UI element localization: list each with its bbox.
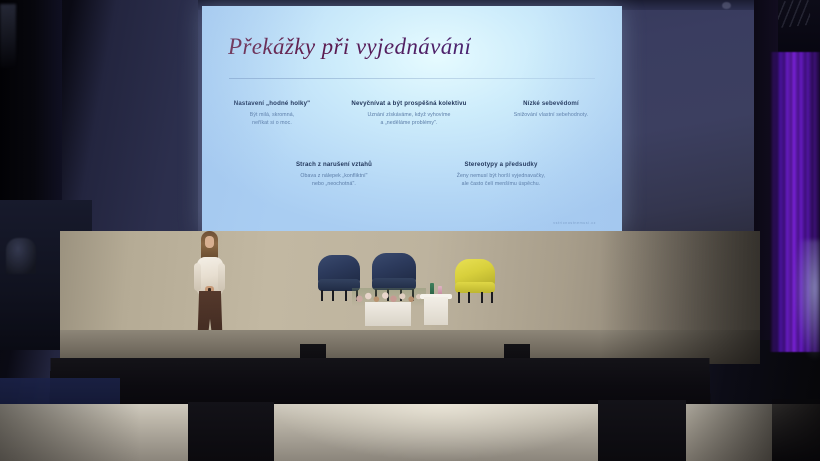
point-heading: Nastavení „hodné holky" bbox=[218, 100, 326, 108]
right-stage-glow bbox=[794, 240, 820, 360]
audience-silhouette-right bbox=[772, 399, 820, 461]
floor-light-pool bbox=[270, 404, 610, 461]
point-body: Uznání získáváme, když vyhovíme a „neděl… bbox=[333, 111, 485, 128]
ceiling-spotlight-icon bbox=[722, 2, 731, 9]
slide-points-row-bottom: Strach z narušení vztahů Obava z nálepek… bbox=[270, 161, 570, 189]
speaker-arm-right bbox=[218, 263, 225, 291]
point-heading: Nevyčnívat a být prospěšná kolektivu bbox=[333, 100, 485, 108]
projected-slide: Překážky při vyjednávání Nastavení „hodn… bbox=[202, 6, 622, 233]
stage-step-left bbox=[188, 402, 274, 461]
point-heading: Strach z narušení vztahů bbox=[270, 161, 398, 169]
floor-shadow-left bbox=[0, 404, 140, 461]
stage-front-face bbox=[49, 358, 710, 406]
yellow-armchair bbox=[455, 259, 495, 303]
slide-title: Překážky při vyjednávání bbox=[228, 34, 471, 60]
chair-legs bbox=[455, 292, 495, 303]
slide-point: Strach z narušení vztahů Obava z nálepek… bbox=[270, 161, 398, 189]
left-edge-equipment bbox=[0, 4, 16, 68]
point-heading: Stereotypy a předsudky bbox=[432, 161, 570, 169]
slide-point: Stereotypy a předsudky Ženy nemusí být h… bbox=[432, 161, 570, 189]
white-flower-planter bbox=[365, 302, 411, 326]
point-body: Obava z nálepek „konfliktní" nebo „neoch… bbox=[270, 172, 398, 189]
point-body: Ženy nemusí být horší vyjednavačky, ale … bbox=[432, 172, 570, 189]
point-body: Být milá, skromná, neříkat si o moc. bbox=[218, 111, 326, 128]
white-side-table bbox=[424, 297, 448, 325]
point-body: Snižování vlastní sebehodnoty. bbox=[492, 111, 610, 120]
audience-silhouette-left bbox=[6, 238, 36, 274]
slide-point: Nízké sebevědomí Snižování vlastní sebeh… bbox=[492, 100, 610, 119]
stage-scene: Překážky při vyjednávání Nastavení „hodn… bbox=[0, 0, 820, 461]
slide-point: Nastavení „hodné holky" Být milá, skromn… bbox=[218, 100, 326, 128]
title-divider bbox=[229, 78, 595, 79]
point-heading: Nízké sebevědomí bbox=[492, 100, 610, 108]
slide-points-row-top: Nastavení „hodné holky" Být milá, skromn… bbox=[218, 100, 610, 128]
back-wall-shadow bbox=[600, 231, 760, 341]
stage-step-right bbox=[598, 400, 686, 461]
speaker-face bbox=[205, 236, 214, 248]
slide-point: Nevyčnívat a být prospěšná kolektivu Uzn… bbox=[333, 100, 485, 128]
slide-footer-url: vstricnostnemusi.cz bbox=[553, 221, 596, 225]
speaker-arm-left bbox=[194, 263, 201, 291]
